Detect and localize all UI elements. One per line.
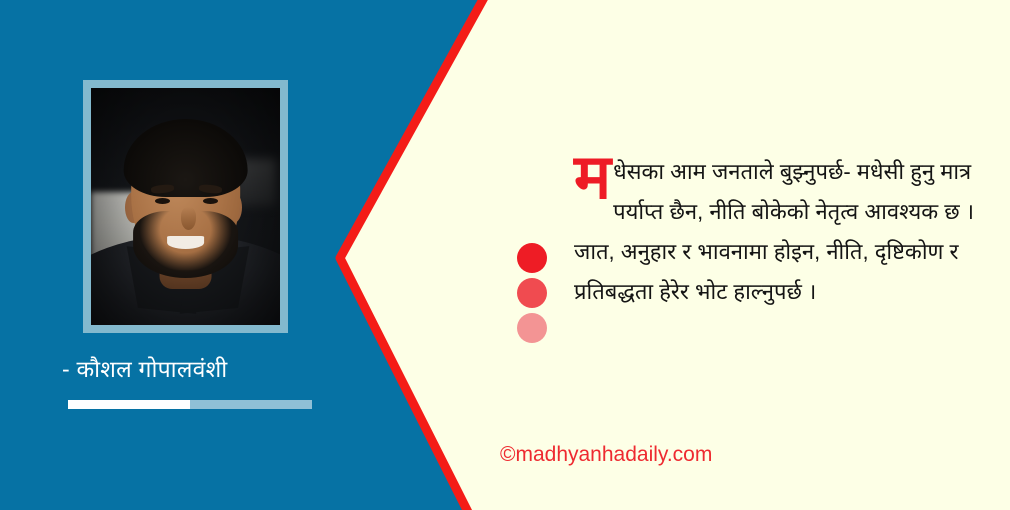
decorative-dots: [517, 243, 547, 348]
rule-segment-white: [68, 400, 190, 409]
quote-line-1: धेसका आम जनताले बुझ्नुपर्छ- मधेसी: [613, 159, 904, 184]
dot-3: [517, 313, 547, 343]
quote-dropcap: म: [574, 152, 611, 204]
photo-vignette: [91, 88, 280, 325]
author-name: - कौशल गोपालवंशी: [62, 352, 342, 384]
portrait-photo: [91, 88, 280, 325]
author-underline-rule: [68, 400, 312, 409]
quote-text: मधेसका आम जनताले बुझ्नुपर्छ- मधेसी हुनु …: [574, 152, 982, 312]
portrait-frame: [83, 80, 288, 333]
site-credit: ©madhyanhadaily.com: [500, 443, 712, 467]
quote-block: मधेसका आम जनताले बुझ्नुपर्छ- मधेसी हुनु …: [574, 152, 982, 312]
quote-graphic-card: - कौशल गोपालवंशी मधेसका आम जनताले बुझ्नु…: [0, 0, 1010, 510]
dot-1: [517, 243, 547, 273]
quote-line-5: हाल्नुपर्छ ।: [733, 279, 816, 304]
rule-segment-lightblue: [190, 400, 312, 409]
dot-2: [517, 278, 547, 308]
